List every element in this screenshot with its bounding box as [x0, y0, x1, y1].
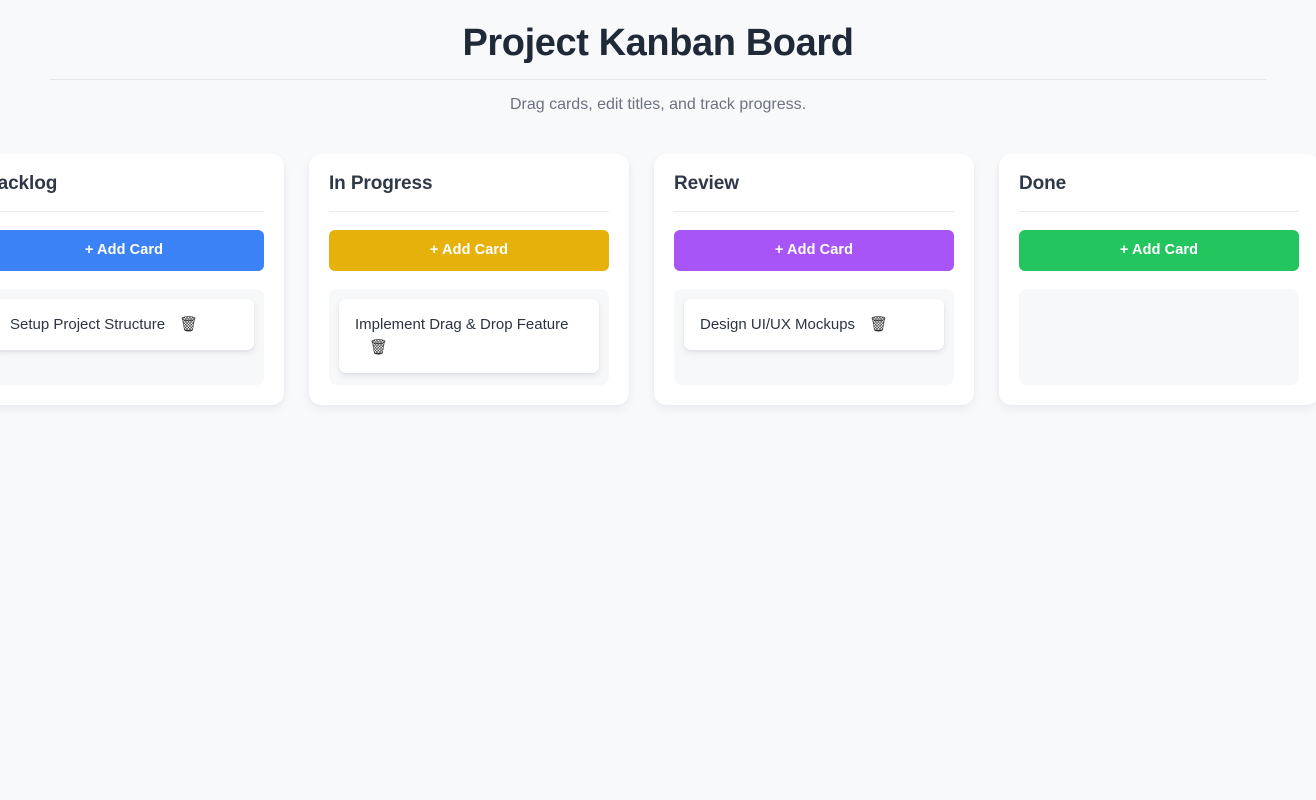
kanban-page: Project Kanban Board Drag cards, edit ti…: [0, 0, 1316, 800]
kanban-column-review: Review+ Add CardDesign UI/UX Mockups🗑: [654, 154, 974, 405]
dropzone-done[interactable]: [1019, 289, 1299, 385]
column-divider: [329, 211, 609, 212]
column-title-review[interactable]: Review: [674, 172, 954, 197]
column-divider: [1019, 211, 1299, 212]
column-divider: [0, 211, 264, 212]
delete-card-icon[interactable]: 🗑: [869, 313, 888, 336]
kanban-column-backlog: Backlog+ Add CardSetup Project Structure…: [0, 154, 284, 405]
add-card-button-in-progress[interactable]: + Add Card: [329, 230, 609, 271]
column-title-done[interactable]: Done: [1019, 172, 1299, 197]
page-title: Project Kanban Board: [0, 22, 1316, 66]
kanban-board: Backlog+ Add CardSetup Project Structure…: [0, 154, 1280, 405]
task-card-title[interactable]: Implement Drag & Drop Feature: [355, 316, 568, 333]
task-card-title[interactable]: Setup Project Structure: [10, 316, 165, 333]
column-title-in-progress[interactable]: In Progress: [329, 172, 609, 197]
dropzone-in-progress[interactable]: Implement Drag & Drop Feature🗑: [329, 289, 609, 385]
dropzone-backlog[interactable]: Setup Project Structure🗑: [0, 289, 264, 385]
delete-card-icon[interactable]: 🗑: [369, 336, 388, 359]
delete-card-icon[interactable]: 🗑: [179, 313, 198, 336]
page-header: Project Kanban Board Drag cards, edit ti…: [0, 0, 1316, 114]
kanban-column-in-progress: In Progress+ Add CardImplement Drag & Dr…: [309, 154, 629, 405]
add-card-button-done[interactable]: + Add Card: [1019, 230, 1299, 271]
add-card-button-review[interactable]: + Add Card: [674, 230, 954, 271]
kanban-column-done: Done+ Add Card: [999, 154, 1316, 405]
column-title-backlog[interactable]: Backlog: [0, 172, 264, 197]
task-card[interactable]: Setup Project Structure🗑: [0, 299, 254, 350]
dropzone-review[interactable]: Design UI/UX Mockups🗑: [674, 289, 954, 385]
page-subtitle: Drag cards, edit titles, and track progr…: [0, 80, 1316, 114]
task-card[interactable]: Implement Drag & Drop Feature🗑: [339, 299, 599, 374]
add-card-button-backlog[interactable]: + Add Card: [0, 230, 264, 271]
column-divider: [674, 211, 954, 212]
task-card-title[interactable]: Design UI/UX Mockups: [700, 316, 855, 333]
task-card[interactable]: Design UI/UX Mockups🗑: [684, 299, 944, 350]
